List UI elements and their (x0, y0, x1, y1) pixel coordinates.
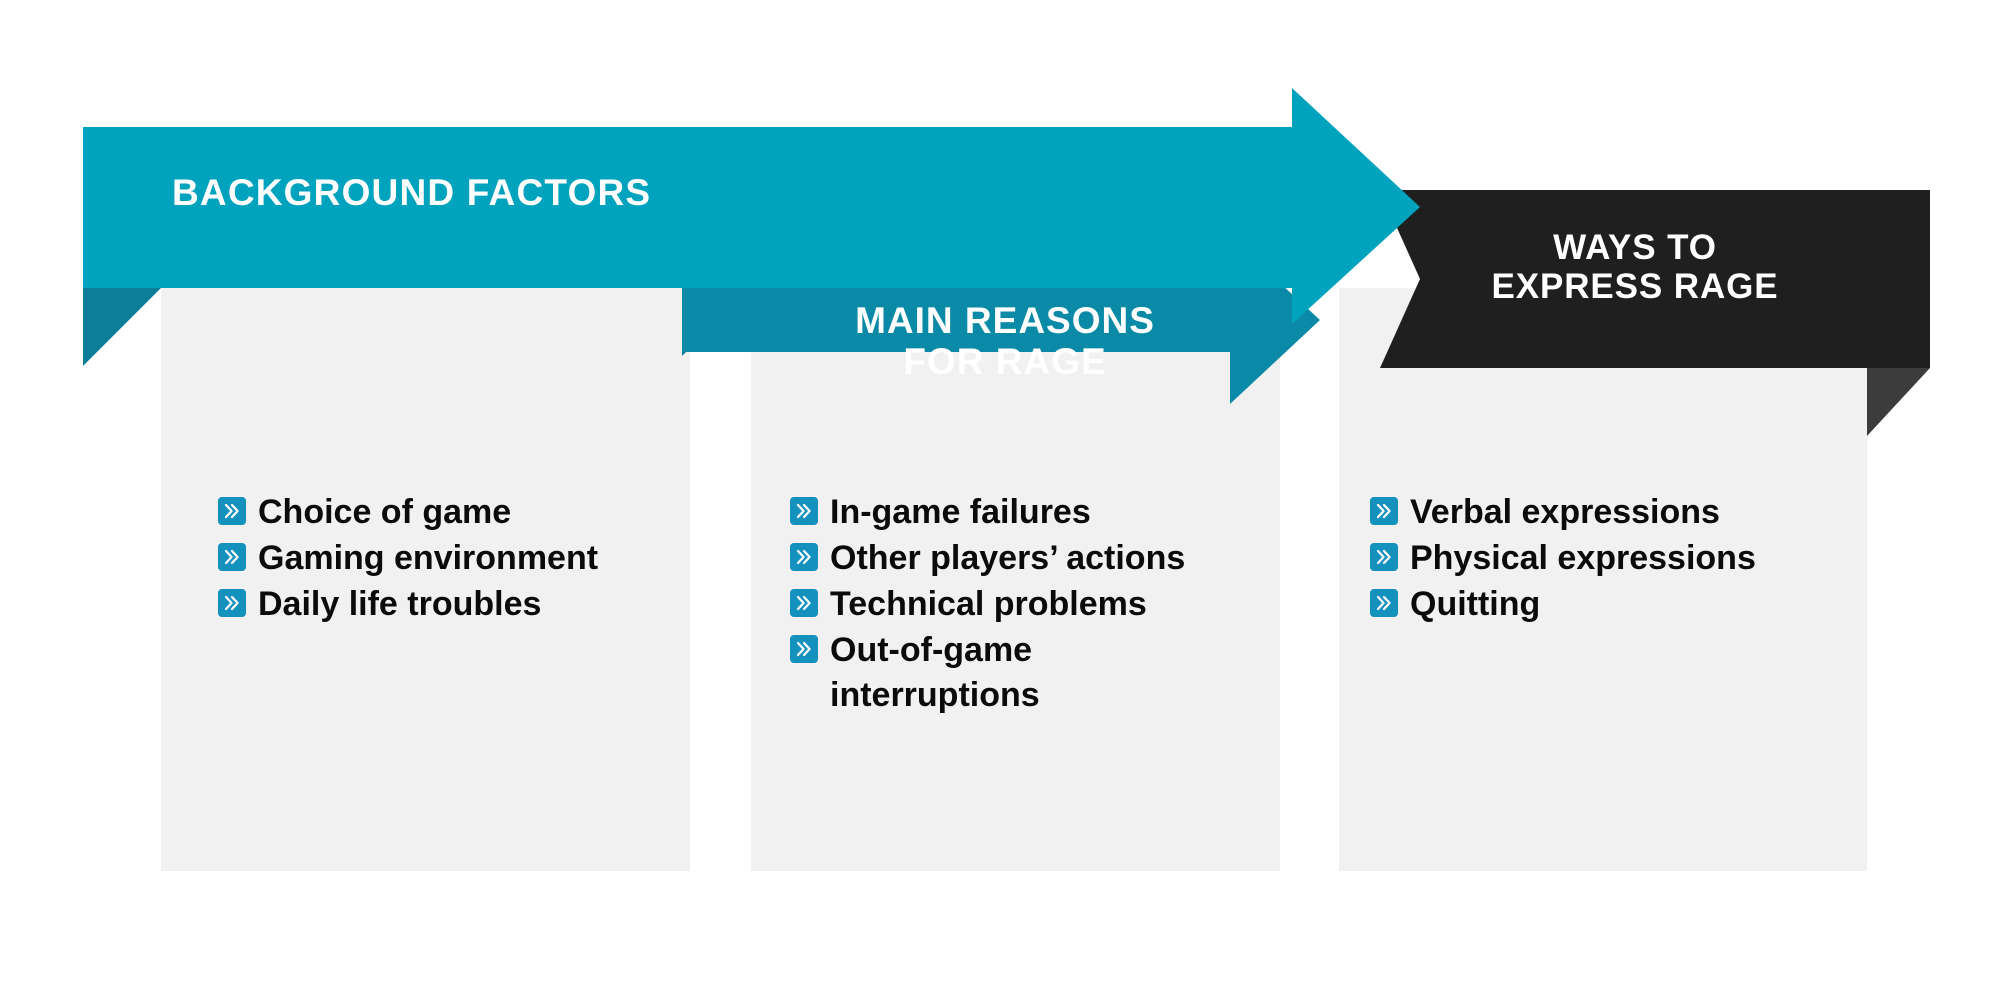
diagram-canvas: BACKGROUND FACTORS MAIN REASONS FOR RAGE… (0, 0, 2000, 1000)
list-item-label: In-game failures (830, 490, 1091, 535)
double-chevron-right-icon (1370, 543, 1398, 571)
black-banner-fold (1867, 368, 1930, 436)
double-chevron-right-icon (1370, 589, 1398, 617)
double-chevron-right-icon (790, 543, 818, 571)
list-item: Other players’ actions (790, 536, 1240, 581)
banner-title-main-reasons: MAIN REASONS FOR RAGE (700, 300, 1310, 383)
double-chevron-right-icon (790, 497, 818, 525)
list-item-label: Verbal expressions (1410, 490, 1720, 535)
list-item: Choice of game (218, 490, 648, 535)
teal-top-fold (83, 288, 161, 366)
bullet-list-background-factors: Choice of game Gaming environment Daily … (218, 490, 648, 628)
double-chevron-right-icon (218, 497, 246, 525)
list-item: Out-of-game interruptions (790, 628, 1240, 718)
double-chevron-right-icon (218, 589, 246, 617)
banner-title-ways-to-express: WAYS TO EXPRESS RAGE (1400, 228, 1870, 306)
list-item-label: Other players’ actions (830, 536, 1185, 581)
list-item-label: Out-of-game interruptions (830, 628, 1240, 718)
list-item-label: Technical problems (830, 582, 1147, 627)
list-item: Quitting (1370, 582, 1810, 627)
list-item: Verbal expressions (1370, 490, 1810, 535)
double-chevron-right-icon (218, 543, 246, 571)
list-item: Daily life troubles (218, 582, 648, 627)
list-item-label: Choice of game (258, 490, 511, 535)
banner-title-background-factors: BACKGROUND FACTORS (172, 172, 651, 213)
list-item: Physical expressions (1370, 536, 1810, 581)
double-chevron-right-icon (1370, 497, 1398, 525)
list-item: In-game failures (790, 490, 1240, 535)
double-chevron-right-icon (790, 635, 818, 663)
list-item-label: Daily life troubles (258, 582, 541, 627)
list-item-label: Gaming environment (258, 536, 598, 581)
list-item: Technical problems (790, 582, 1240, 627)
list-item-label: Quitting (1410, 582, 1540, 627)
double-chevron-right-icon (790, 589, 818, 617)
list-item: Gaming environment (218, 536, 648, 581)
list-item-label: Physical expressions (1410, 536, 1756, 581)
bullet-list-main-reasons: In-game failures Other players’ actions … (790, 490, 1240, 719)
bullet-list-ways-to-express: Verbal expressions Physical expressions … (1370, 490, 1810, 628)
